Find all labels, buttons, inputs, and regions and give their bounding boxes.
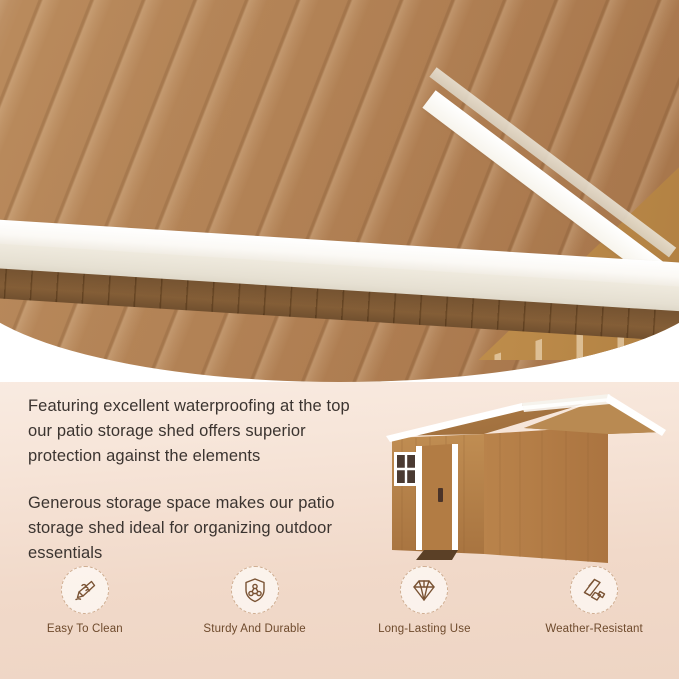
hero-roof-photo bbox=[0, 0, 679, 382]
copy-paragraph-2: Generous storage space makes our patio s… bbox=[28, 491, 378, 566]
shed-illustration bbox=[372, 388, 670, 573]
product-shed-image bbox=[372, 388, 670, 573]
feature-label: Easy To Clean bbox=[47, 623, 123, 635]
wiping-hand-icon bbox=[71, 576, 99, 604]
diamond-icon-ring bbox=[400, 566, 448, 614]
shed-side-wall bbox=[484, 426, 608, 563]
feature-easy-to-clean[interactable]: Easy To Clean bbox=[0, 566, 170, 652]
door-ramp bbox=[416, 550, 458, 560]
stacked-planks-icon-ring bbox=[570, 566, 618, 614]
feature-highlights-row: Easy To Clean Sturdy And Durable bbox=[0, 566, 679, 652]
copy-paragraph-1: Featuring excellent waterproofing at the… bbox=[28, 394, 378, 469]
door-trim-right bbox=[452, 444, 458, 550]
feature-weather-resistant[interactable]: Weather-Resistant bbox=[509, 566, 679, 652]
product-marketing-image: Featuring excellent waterproofing at the… bbox=[0, 0, 679, 679]
stacked-planks-icon bbox=[580, 576, 608, 604]
diamond-icon bbox=[410, 576, 438, 604]
feature-label: Weather-Resistant bbox=[545, 623, 643, 635]
wiping-hand-icon-ring bbox=[61, 566, 109, 614]
feature-label: Sturdy And Durable bbox=[203, 623, 305, 635]
shed-door bbox=[422, 444, 452, 550]
shield-molecule-icon bbox=[241, 576, 269, 604]
feature-sturdy-and-durable[interactable]: Sturdy And Durable bbox=[170, 566, 340, 652]
door-handle bbox=[438, 488, 443, 502]
hero-curved-mask bbox=[0, 0, 679, 382]
feature-long-lasting-use[interactable]: Long-Lasting Use bbox=[340, 566, 510, 652]
marketing-copy: Featuring excellent waterproofing at the… bbox=[28, 394, 378, 566]
feature-label: Long-Lasting Use bbox=[378, 623, 471, 635]
shield-molecule-icon-ring bbox=[231, 566, 279, 614]
